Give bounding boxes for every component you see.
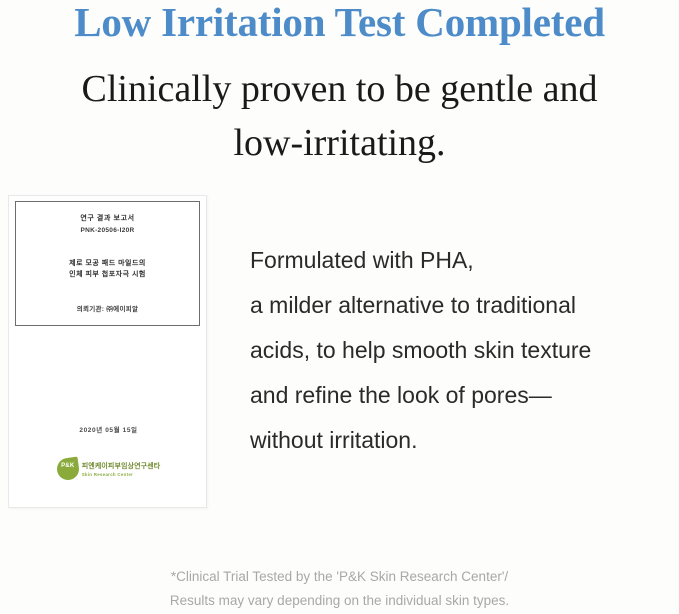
- footnote-line-1: *Clinical Trial Tested by the 'P&K Skin …: [0, 565, 679, 589]
- leaf-icon: P&K: [57, 458, 79, 480]
- logo-wordmark: 피엔케이피부임상연구센타 Skin Research Center: [82, 461, 160, 477]
- page-subheadline: Clinically proven to be gentle and low-i…: [30, 62, 649, 170]
- body-line-1: Formulated with PHA,: [250, 238, 675, 283]
- body-line-2: a milder alternative to traditional: [250, 283, 675, 328]
- subheadline-line-2: low-irritating.: [30, 116, 649, 170]
- report-subject-line-2: 인체 피부 첩포자극 시험: [69, 271, 146, 278]
- report-title: 연구 결과 보고서: [16, 213, 199, 223]
- logo-mark-text: P&K: [57, 463, 79, 469]
- report-code: PNK-20506-I20R: [16, 227, 199, 234]
- report-client: 의뢰기관: ㈜에이피알: [16, 303, 199, 313]
- pk-research-center-logo: P&K 피엔케이피부임상연구센타 Skin Research Center: [9, 458, 208, 480]
- body-line-5: without irritation.: [250, 418, 675, 463]
- report-subject: 제로 모공 패드 마일드의 인체 피부 첩포자극 시험: [16, 258, 199, 280]
- logo-name-english: Skin Research Center: [82, 472, 160, 477]
- footnote-disclaimer: *Clinical Trial Tested by the 'P&K Skin …: [0, 565, 679, 613]
- body-copy: Formulated with PHA, a milder alternativ…: [250, 238, 675, 463]
- report-header-box: 연구 결과 보고서 PNK-20506-I20R 제로 모공 패드 마일드의 인…: [15, 201, 200, 326]
- body-line-4: and refine the look of pores—: [250, 373, 675, 418]
- clinical-report-document: 연구 결과 보고서 PNK-20506-I20R 제로 모공 패드 마일드의 인…: [8, 195, 207, 508]
- leaf-shape: [55, 457, 80, 482]
- logo-name-korean: 피엔케이피부임상연구센타: [82, 461, 160, 471]
- footnote-line-2: Results may vary depending on the indivi…: [0, 589, 679, 613]
- page-headline: Low Irritation Test Completed: [0, 0, 679, 46]
- report-subject-line-1: 제로 모공 패드 마일드의: [69, 260, 146, 267]
- subheadline-line-1: Clinically proven to be gentle and: [81, 68, 597, 110]
- body-line-3: acids, to help smooth skin texture: [250, 328, 675, 373]
- report-date: 2020년 05월 15일: [9, 424, 208, 434]
